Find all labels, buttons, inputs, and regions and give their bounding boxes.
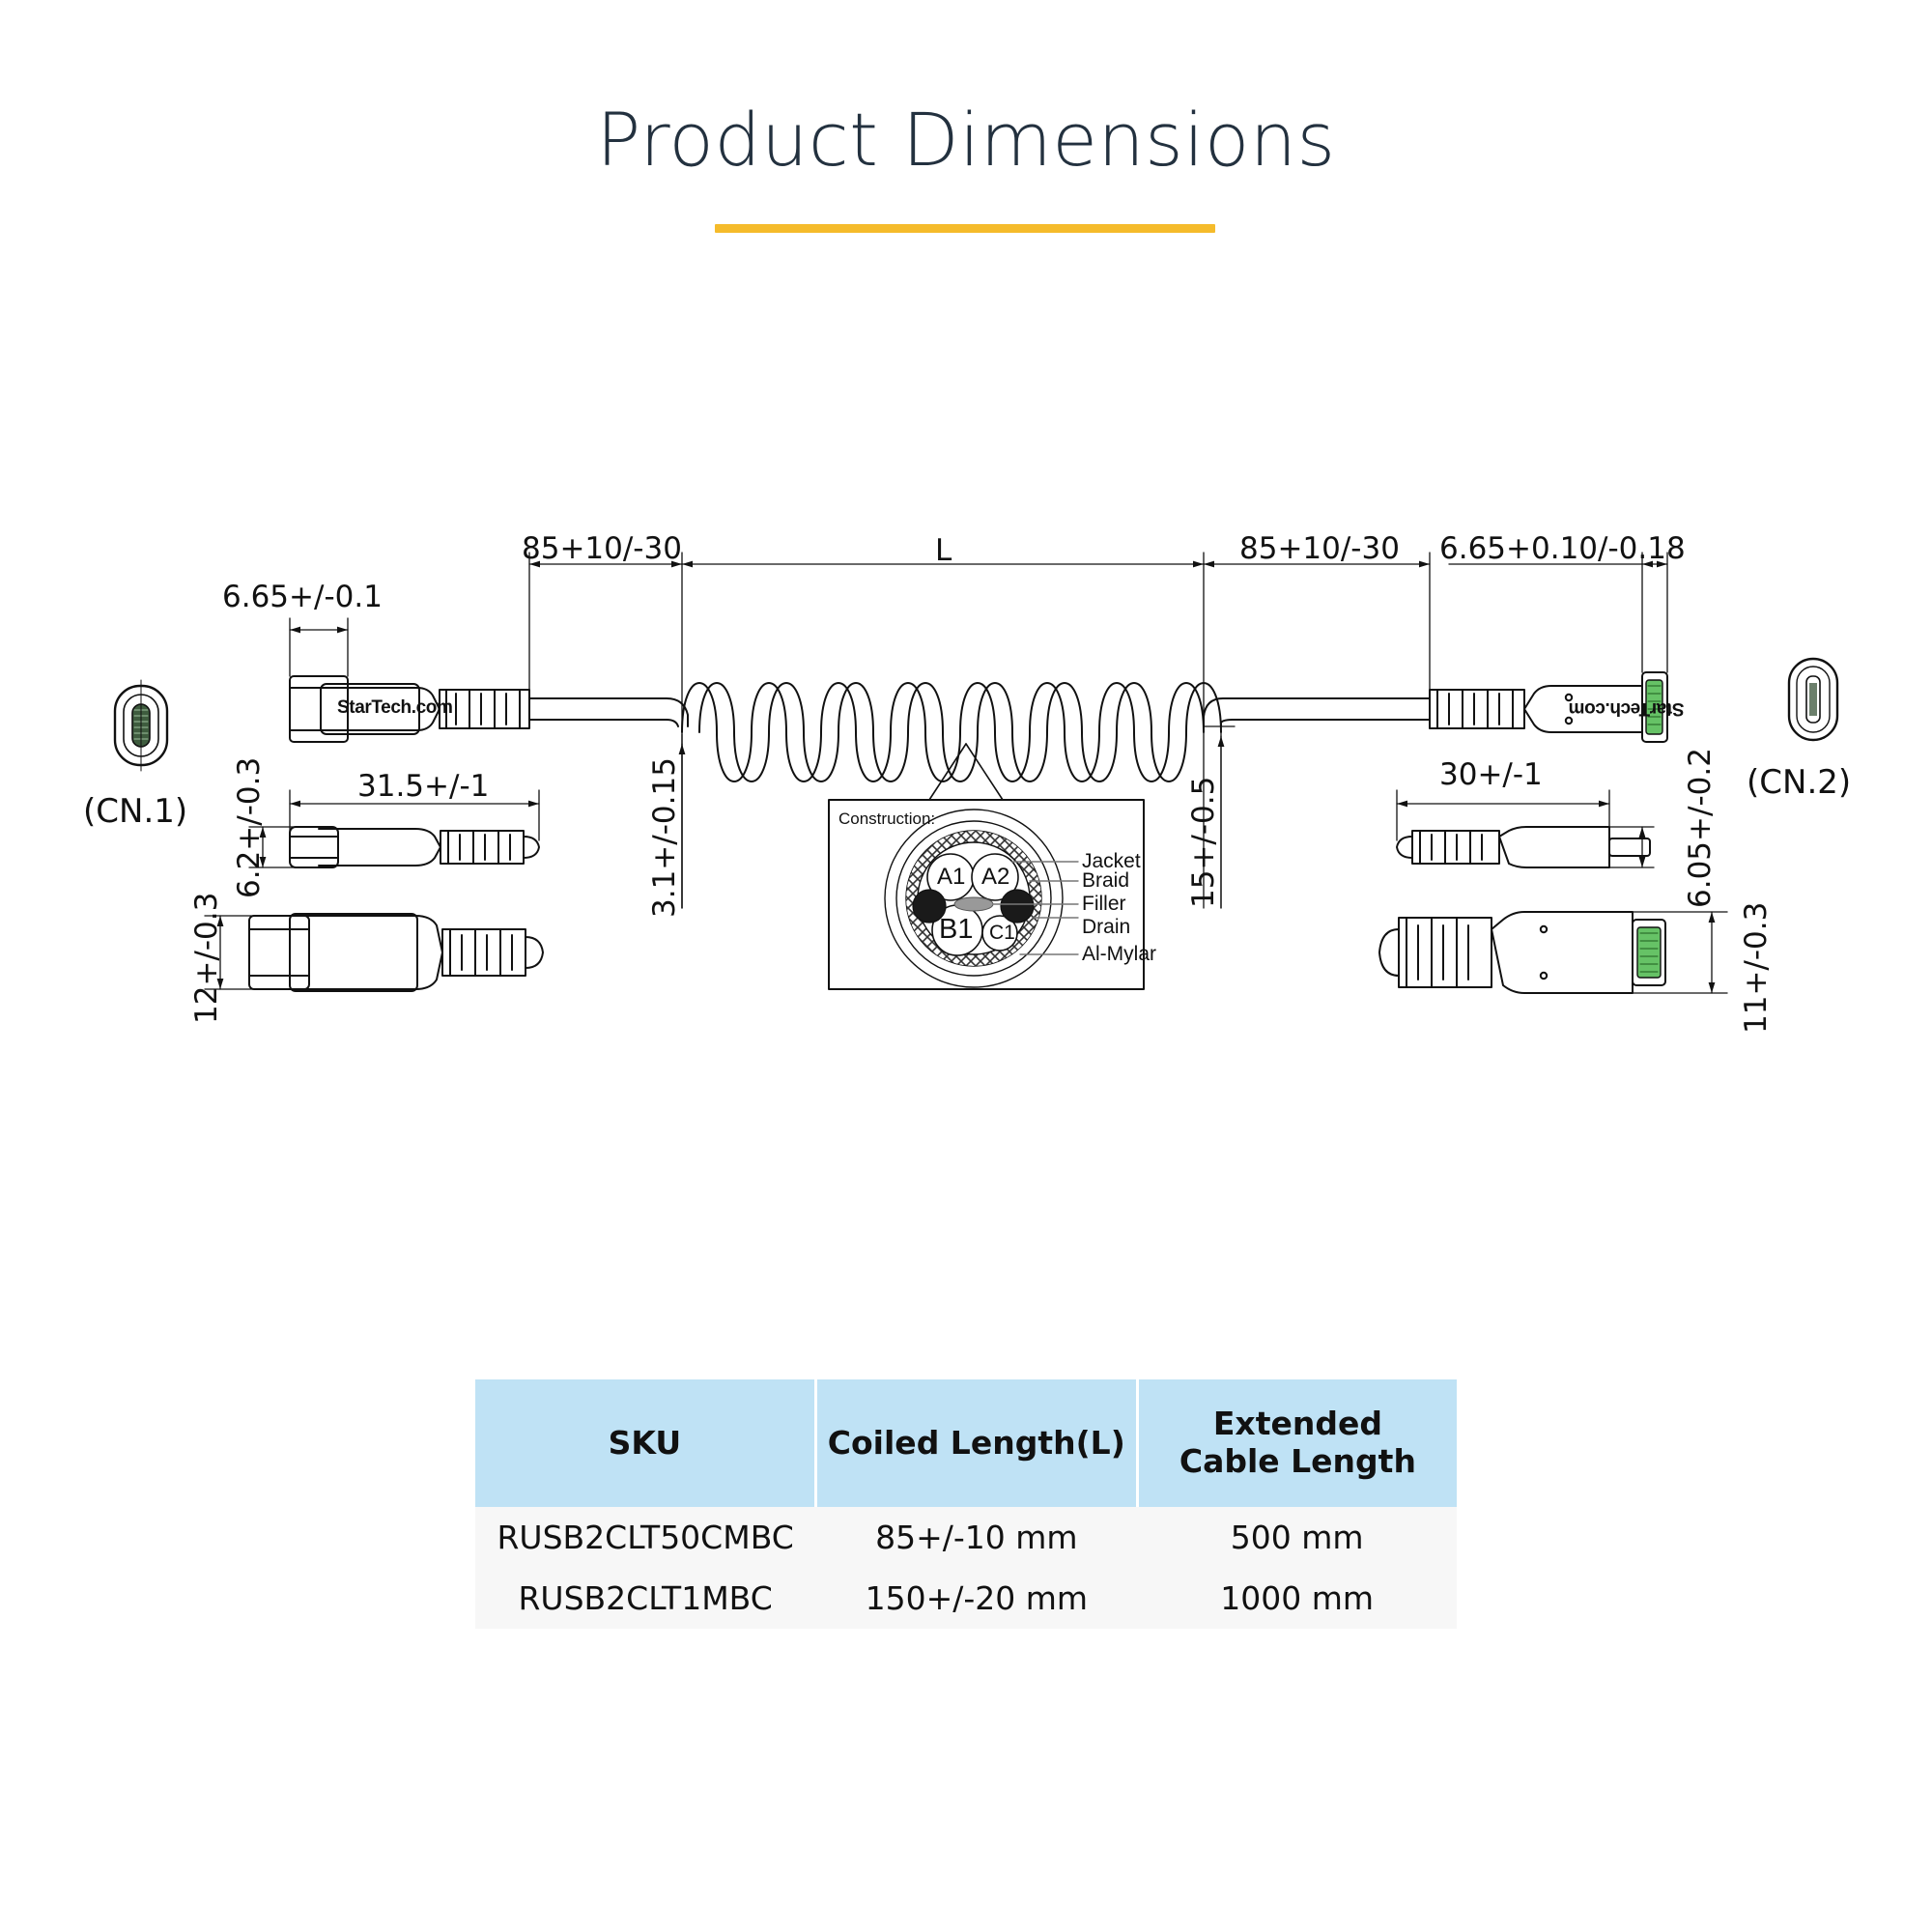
construction-callout-filler: Filler (1082, 893, 1126, 916)
dim-label-left-leg: 85+10/-30 (522, 531, 682, 566)
cn2-side-profile-thin (1397, 827, 1650, 867)
dim-label-cn1-body-length: 31.5+/-1 (357, 769, 489, 804)
cn2-label: (CN.2) (1747, 763, 1851, 802)
dim-label-right-leg: 85+10/-30 (1239, 531, 1400, 566)
cn1-side-profile-thin (290, 827, 539, 867)
cable-left-straight (529, 698, 688, 726)
dim-label-cn1-body-height: 12+/-0.3 (189, 893, 224, 1024)
table-header-extended-line2: Cable Length (1147, 1443, 1449, 1481)
dim-cn2-tip-height (1605, 827, 1654, 867)
spec-table: SKU Coiled Length(L) Extended Cable Leng… (475, 1379, 1457, 1629)
construction-callout-drain: Drain (1082, 916, 1130, 939)
cn2-strain-relief (1430, 690, 1524, 728)
product-dimensions-page: Product Dimensions (0, 0, 1932, 1932)
cn1-label: (CN.1) (83, 792, 187, 831)
table-cell-sku: RUSB2CLT1MBC (475, 1568, 815, 1629)
dim-label-strain-relief-right: 15+/-0.5 (1186, 777, 1221, 908)
dim-label-cn2-width: 6.65+0.10/-0.18 (1439, 531, 1686, 566)
core-label-b1: B1 (939, 914, 973, 946)
construction-callout-braid: Braid (1082, 869, 1129, 893)
table-cell-extended-length: 500 mm (1137, 1507, 1457, 1568)
dim-label-cn1-tip-height: 6.2+/-0.3 (232, 757, 267, 898)
table-header-row: SKU Coiled Length(L) Extended Cable Leng… (475, 1379, 1457, 1507)
core-label-a2: A2 (981, 864, 1009, 891)
dim-cn2-width (1449, 553, 1667, 672)
dim-label-cn2-body-length: 30+/-1 (1439, 757, 1543, 792)
cn2-port-symbol (1789, 659, 1837, 740)
table-header-coiled-length: Coiled Length(L) (815, 1379, 1137, 1507)
technical-drawing (0, 0, 1932, 1932)
dim-label-coil-length: L (935, 533, 952, 568)
dim-label-cable-od: 3.1+/-0.15 (647, 757, 682, 918)
table-header-extended-length: Extended Cable Length (1137, 1379, 1457, 1507)
dim-right-leg (1204, 553, 1430, 908)
table-cell-sku: RUSB2CLT50CMBC (475, 1507, 815, 1568)
dim-cn2-body-length (1397, 790, 1609, 840)
construction-title: Construction: (838, 810, 935, 829)
table-cell-coiled-length: 150+/-20 mm (815, 1568, 1137, 1629)
table-row: RUSB2CLT1MBC 150+/-20 mm 1000 mm (475, 1568, 1457, 1629)
cn1-brand-text: StarTech.com (337, 697, 452, 719)
construction-callout-al-mylar: Al-Mylar (1082, 943, 1156, 966)
table-cell-extended-length: 1000 mm (1137, 1568, 1457, 1629)
cn2-side-profile-thick (1379, 912, 1665, 993)
dim-label-cn1-width: 6.65+/-0.1 (222, 580, 383, 614)
core-label-c1: C1 (989, 922, 1015, 945)
table-row: RUSB2CLT50CMBC 85+/-10 mm 500 mm (475, 1507, 1457, 1568)
cn1-strain-relief (440, 690, 529, 728)
table-header-extended-line1: Extended (1147, 1406, 1449, 1443)
cn2-brand-text: StarTech.com (1569, 697, 1684, 719)
core-label-a1: A1 (937, 864, 965, 891)
construction-callout-leader (833, 744, 1140, 800)
cable-right-straight (1204, 698, 1430, 726)
dim-label-cn2-tip-height: 6.05+/-0.2 (1683, 748, 1718, 908)
dim-label-cn2-body-height: 11+/-0.3 (1739, 902, 1774, 1034)
dim-cn1-width (290, 618, 348, 676)
cn1-side-profile-thick (249, 914, 543, 991)
table-cell-coiled-length: 85+/-10 mm (815, 1507, 1137, 1568)
table-header-sku: SKU (475, 1379, 815, 1507)
cn1-port-symbol (115, 680, 167, 771)
